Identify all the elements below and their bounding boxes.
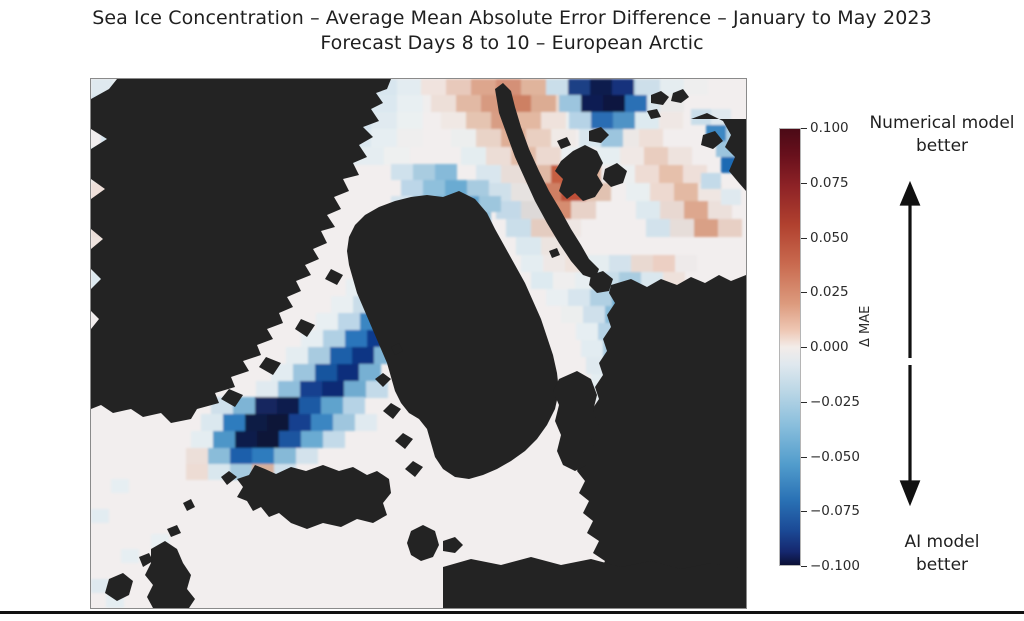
colorbar-tick [801,238,807,239]
colorbar-gradient [779,128,801,566]
bottom-divider [0,611,1024,614]
colorbar-label-5: −0.025 [810,394,860,410]
annotation-bottom-line-2: better [860,554,1024,577]
colorbar-label-4: 0.000 [810,339,849,355]
colorbar: 0.100 0.075 0.050 0.025 0.000 −0.025 −0.… [779,128,801,566]
arrow-down-head [902,482,918,502]
colorbar-tick [801,511,807,512]
annotation-top-line-1: Numerical model [860,112,1024,135]
direction-arrows [880,180,940,510]
map-panel [90,78,747,609]
colorbar-label-0: 0.100 [810,120,849,136]
annotation-numerical-model-better: Numerical model better [860,112,1024,158]
colorbar-tick [801,347,807,348]
colorbar-label-2: 0.050 [810,230,849,246]
figure-title: Sea Ice Concentration – Average Mean Abs… [0,6,1024,56]
colorbar-label-7: −0.075 [810,503,860,519]
colorbar-label-1: 0.075 [810,175,849,191]
colorbar-tick [801,128,807,129]
colorbar-tick [801,457,807,458]
colorbar-tick [801,183,807,184]
colorbar-tick [801,566,807,567]
colorbar-tick [801,292,807,293]
finland [553,371,599,471]
title-line-1: Sea Ice Concentration – Average Mean Abs… [0,6,1024,31]
annotation-bottom-line-1: AI model [860,531,1024,554]
annotation-top-line-2: better [860,135,1024,158]
colorbar-label-3: 0.025 [810,284,849,300]
title-line-2: Forecast Days 8 to 10 – European Arctic [0,31,1024,56]
colorbar-label-6: −0.050 [810,449,860,465]
colorbar-label-8: −0.100 [810,558,860,574]
annotation-ai-model-better: AI model better [860,531,1024,577]
map-heatmap [91,79,746,608]
arrow-up-head [902,185,918,204]
colorbar-tick [801,402,807,403]
colorbar-axis-label: Δ MAE [858,306,873,347]
